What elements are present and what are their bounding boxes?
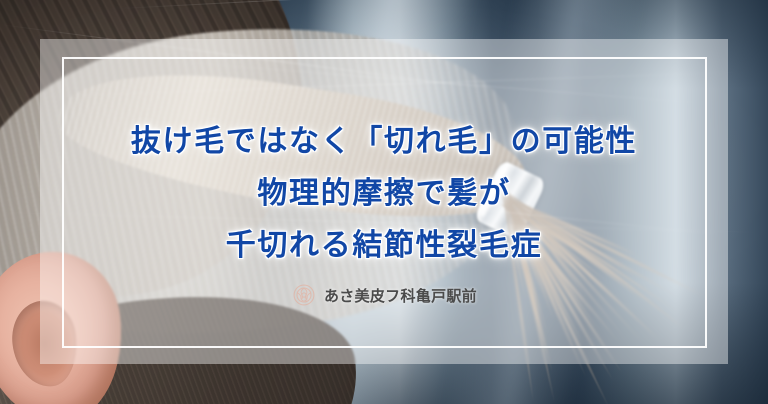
copy-block: 抜け毛ではなく「切れ毛」の可能性 物理的摩擦で髪が 千切れる結節性裂毛症 [0, 116, 768, 308]
clinic-name: あさ美皮フ科亀戸駅前 [324, 285, 477, 306]
title-line-1: 抜け毛ではなく「切れ毛」の可能性 [0, 116, 768, 168]
hero-banner: 抜け毛ではなく「切れ毛」の可能性 物理的摩擦で髪が 千切れる結節性裂毛症 [0, 0, 768, 404]
clinic-signature: あさ美皮フ科亀戸駅前 [0, 282, 768, 308]
title-line-2: 物理的摩擦で髪が [0, 168, 768, 220]
title-line-3: 千切れる結節性裂毛症 [0, 220, 768, 272]
clinic-flower-mark-icon [291, 282, 317, 308]
